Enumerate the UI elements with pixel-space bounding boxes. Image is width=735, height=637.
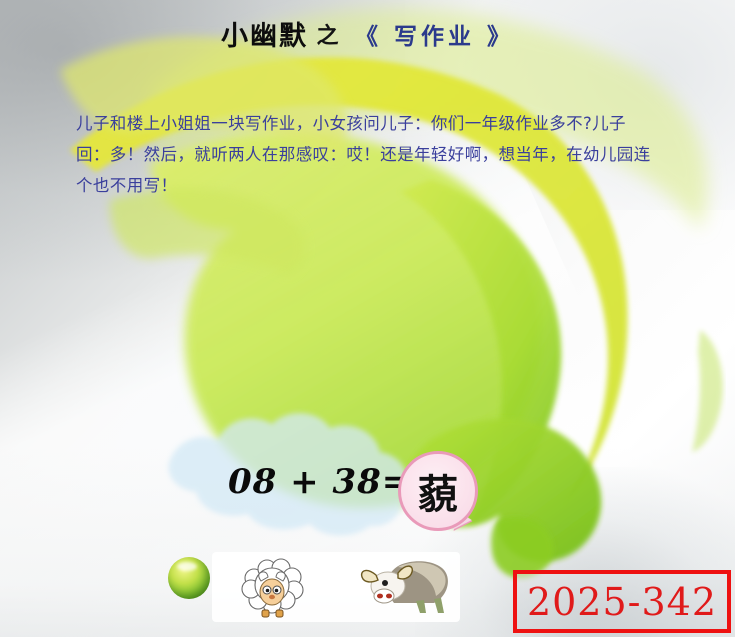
orb-highlight-icon xyxy=(177,562,197,571)
green-orb-icon xyxy=(168,557,210,599)
page-title: 小幽默 之 《 写作业 》 xyxy=(0,14,735,53)
title-main-text: 小幽默 xyxy=(221,21,308,52)
title-connector-text: 之 xyxy=(316,24,338,49)
serial-number-text: 2025-342 xyxy=(527,580,717,624)
leaf-artwork xyxy=(0,0,735,637)
joke-paragraph: 儿子和楼上小姐姐一块写作业，小女孩问儿子：你们一年级作业多不?儿子回：多！然后，… xyxy=(76,108,656,201)
humor-poster: 小幽默 之 《 写作业 》 儿子和楼上小姐姐一块写作业，小女孩问儿子：你们一年级… xyxy=(0,0,735,637)
answer-speech-bubble: 藐 xyxy=(398,451,478,531)
background-wash-cloud-blue xyxy=(35,241,506,590)
serial-number-box: 2025-342 xyxy=(513,570,731,633)
title-subject-text: 《 写作业 》 xyxy=(355,23,514,50)
sheep-icon xyxy=(234,552,310,624)
answer-character: 藐 xyxy=(401,454,475,528)
equation-expression: 08 + 38= xyxy=(228,462,411,502)
ox-icon xyxy=(354,553,454,615)
